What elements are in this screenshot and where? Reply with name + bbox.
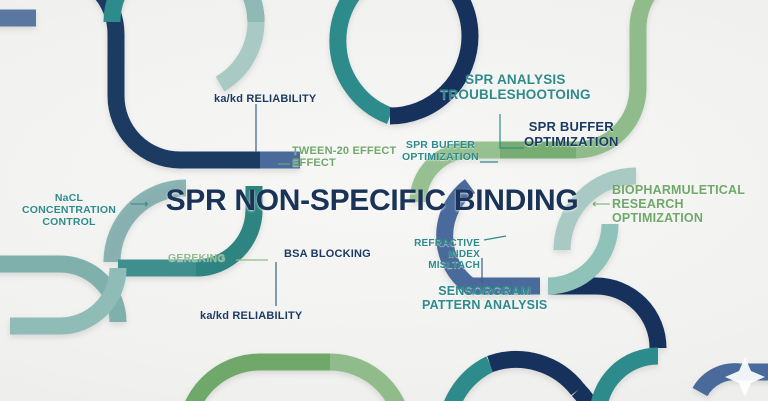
arrow-left-icon: ⟵ — [592, 197, 611, 210]
arc-green-bottom-left-light — [330, 362, 404, 401]
label-tween-20-effect: TWEEN-20 EFFECT EFFECT — [292, 145, 396, 170]
arc-ring-top-navy-2 — [430, 0, 470, 36]
arc-teal-top-left-hump-pale — [220, 22, 256, 84]
label-spr-buffer-optimization-navy: SPR BUFFER OPTIMIZATION — [524, 120, 619, 149]
page-title: SPR NON-SPECIFIC BINDING — [152, 184, 592, 218]
slide-canvas: SPR NON-SPECIFIC BINDING ka/kd RELIABILI… — [0, 0, 768, 401]
arrow-right-icon: ⟶ — [130, 197, 149, 210]
label-spr-buffer-optimization-teal: SPR BUFFER OPTIMIZATION — [402, 140, 479, 164]
sparkle-icon — [725, 357, 765, 397]
label-gereking: GEREKING — [168, 253, 226, 265]
label-bsa-blocking: BSA BLOCKING — [284, 248, 371, 260]
label-biopharmuletical-research-optimization: BIOPHARMULETICAL RESEARCH OPTIMIZATION — [612, 183, 745, 225]
label-nacl-concentration-control: NaCL CONCENTRATION CONTROL — [8, 193, 130, 228]
arc-teal-bottom-right — [598, 356, 658, 401]
arc-ring-top-teal — [338, 0, 390, 116]
arc-bottom-center-navy — [490, 359, 578, 390]
arc-teal-top-left-hump-light — [184, 0, 256, 22]
arc-bottom-center-teal — [446, 364, 490, 401]
arc-green-bottom-left-dark — [186, 362, 260, 401]
label-spr-analysis-troubleshootoing: SPR ANALYSIS TROUBLESHOOTOING — [440, 72, 591, 102]
label-refractive-index-misltach: REFRACTIVE INDEX MISLTACH — [384, 238, 480, 272]
arc-teal-top-left-hump-dark — [112, 0, 256, 22]
label-ka-kd-reliability-bottom: ka/kd RELIABILITY — [200, 310, 302, 322]
label-sensorgram-pattern-analysis: SENSORGRAM PATTERN ANALYSIS — [422, 284, 547, 312]
label-ka-kd-reliability-top: ka/kd RELIABILITY — [214, 93, 316, 105]
leader-refractive — [484, 236, 506, 240]
